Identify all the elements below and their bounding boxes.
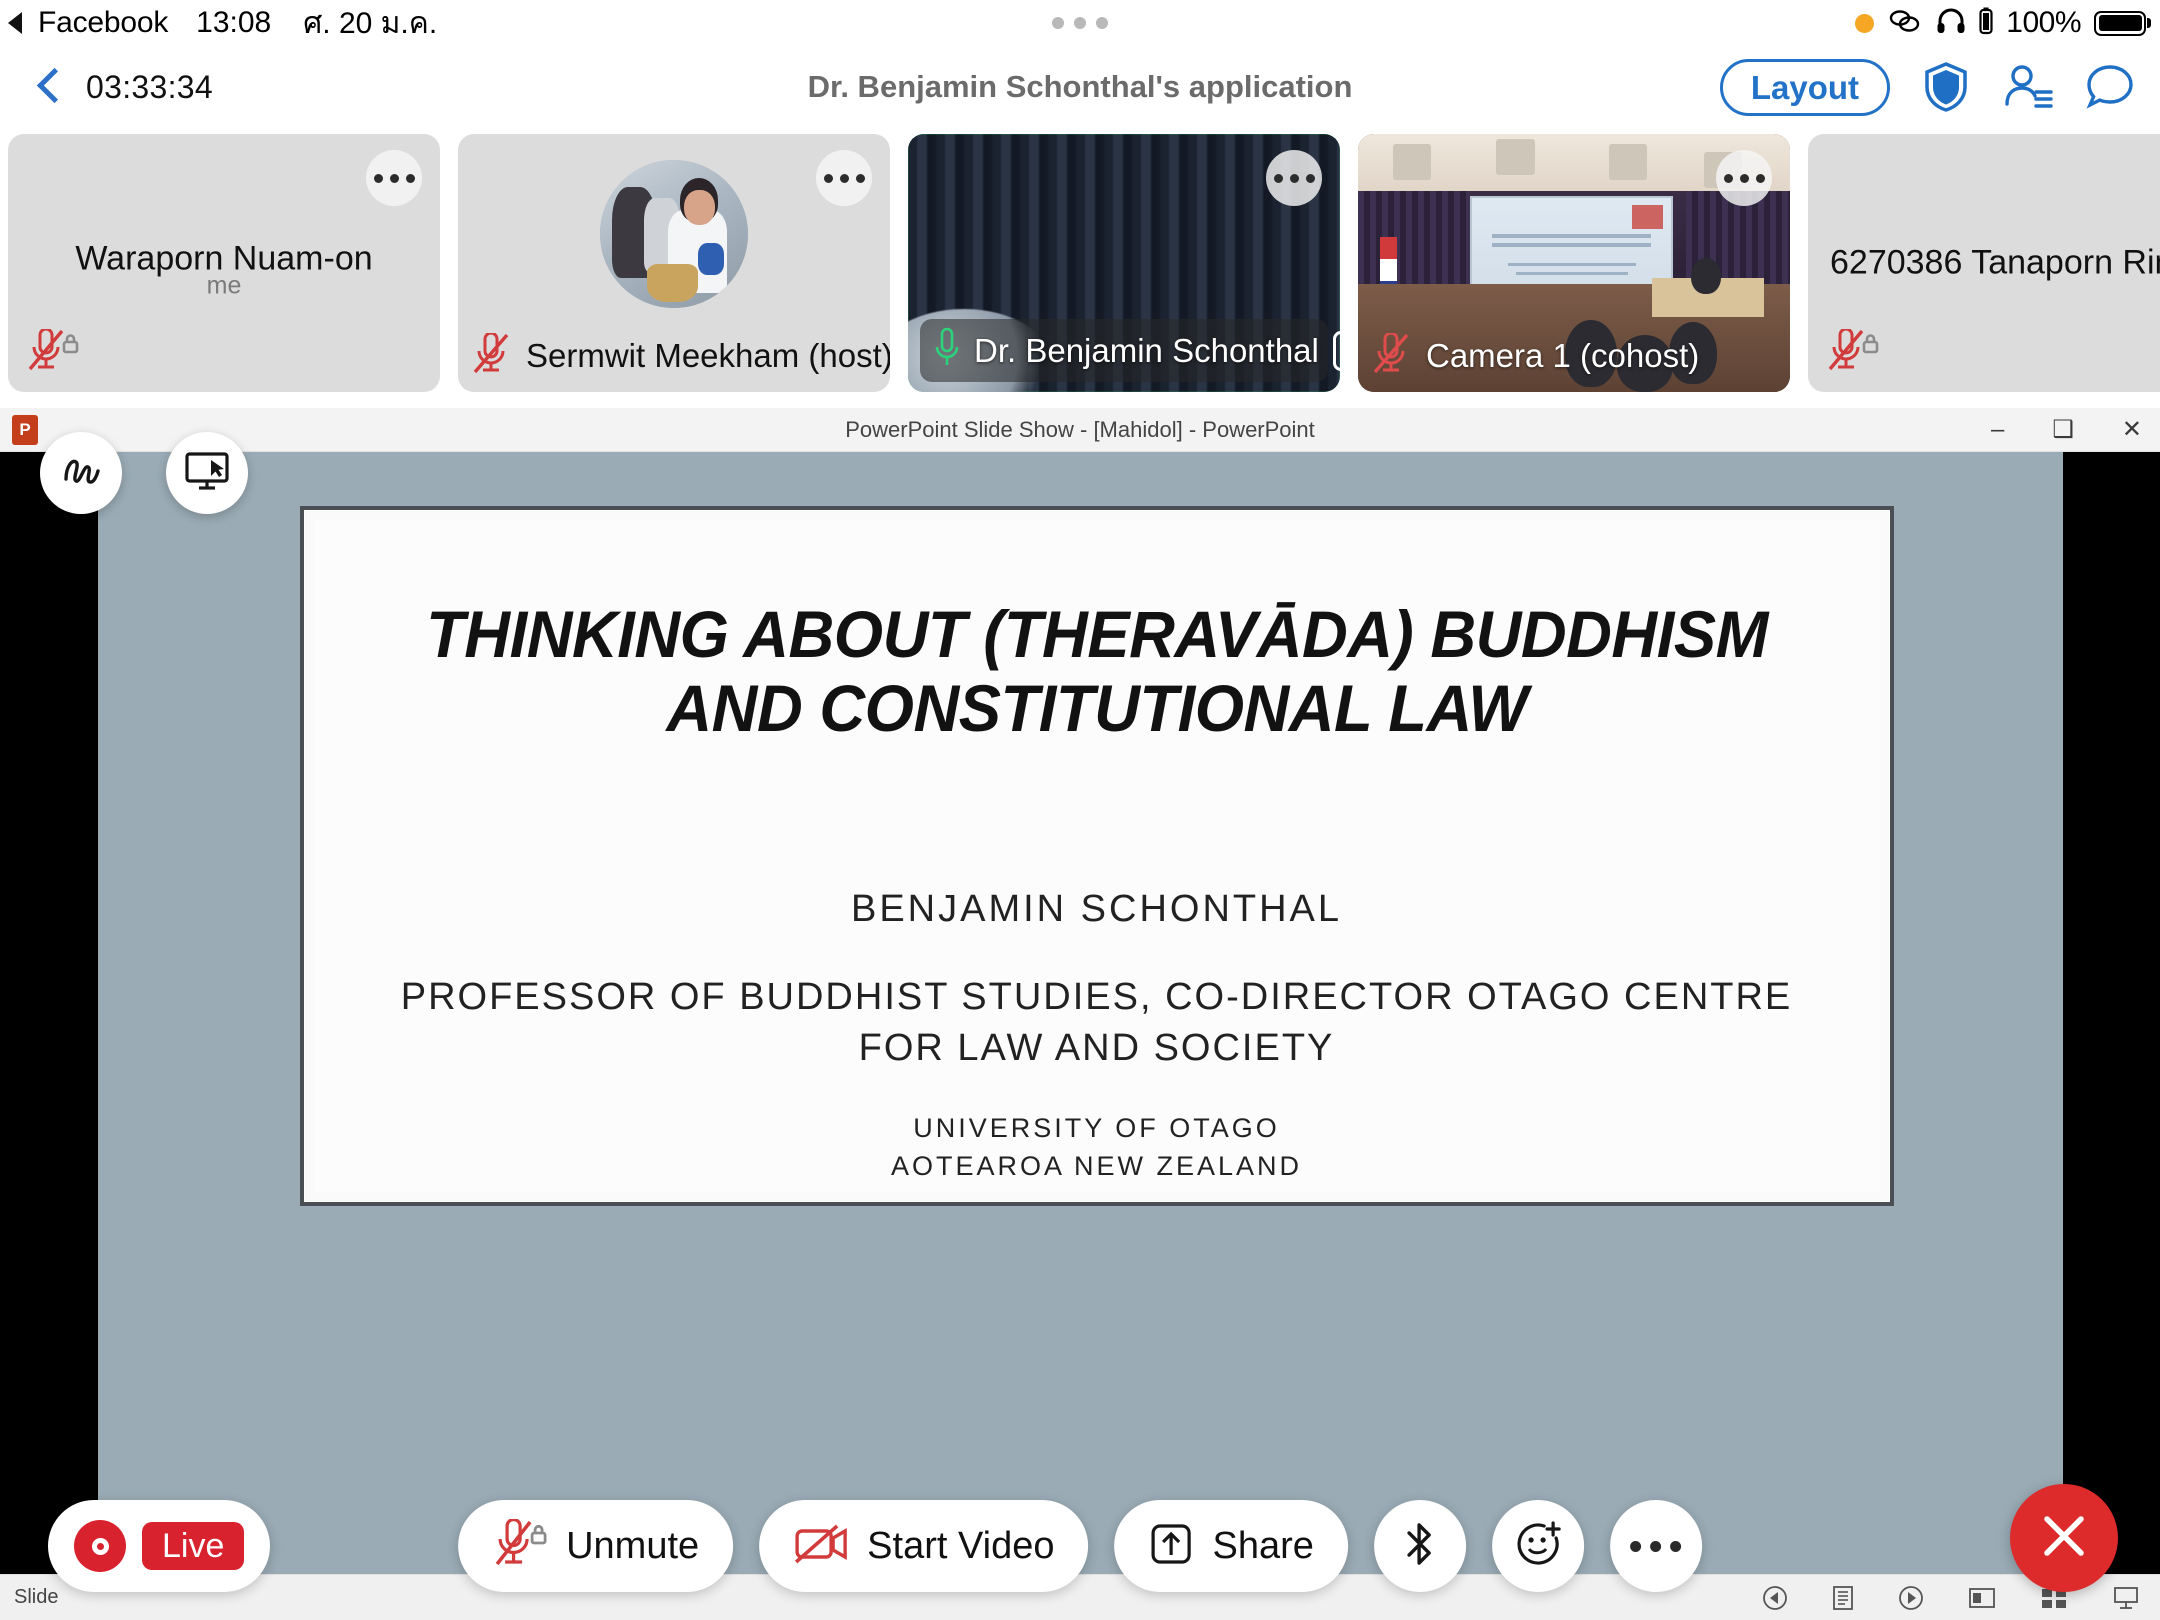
shield-icon[interactable] [1920,61,1972,113]
mic-active-icon [934,327,960,374]
ios-status-bar: Facebook 13:08 ศ. 20 ม.ค. [0,0,2160,46]
airplay-loop-icon [1887,8,1923,39]
participant-tile-camera1[interactable]: Camera 1 (cohost) [1358,134,1790,392]
slide-role: PROFESSOR OF BUDDHIST STUDIES, CO-DIRECT… [374,972,1820,1075]
headphones-icon [1936,7,1966,40]
participant-tile-waraporn[interactable]: Waraporn Nuam-on me [8,134,440,392]
participant-tile-benjamin[interactable]: Dr. Benjamin Schonthal [908,134,1340,392]
bluetooth-button[interactable] [1374,1500,1466,1592]
meeting-timer: 03:33:34 [86,69,213,106]
annotate-button[interactable] [40,432,122,514]
remote-control-monitor-icon [182,449,232,498]
zoom-meeting-screen: Facebook 13:08 ศ. 20 ม.ค. [0,0,2160,1620]
reactions-button[interactable] [1492,1500,1584,1592]
tile-more-menu-icon[interactable] [366,150,422,206]
tile-more-menu-icon[interactable] [1716,150,1772,206]
battery-percent-label: 100% [2006,6,2081,40]
video-off-icon [793,1522,849,1571]
close-icon[interactable]: ✕ [2122,418,2142,442]
layout-button[interactable]: Layout [1720,59,1890,116]
battery-small-icon [1979,7,1993,40]
participant-tile-sermwit[interactable]: Sermwit Meekham (host) [458,134,890,392]
remote-control-button[interactable] [166,432,248,514]
status-date: ศ. 20 ม.ค. [303,0,437,47]
live-badge: Live [142,1522,244,1570]
record-icon [74,1520,126,1572]
share-button[interactable]: Share [1114,1500,1347,1592]
status-center-dots [1052,17,1108,29]
muted-mic-locked-icon [492,1519,548,1574]
live-status-pill[interactable]: Live [48,1500,270,1592]
participant-name: Sermwit Meekham (host) [526,337,890,375]
end-share-close-icon [2035,1507,2093,1570]
record-dot-icon [1855,14,1874,33]
slide-affiliation-line2: AOTEAROA NEW ZEALAND [314,1148,1880,1186]
slide-title: THINKING ABOUT (THERAVĀDA) BUDDHISM AND … [393,598,1800,746]
end-share-button[interactable] [2010,1484,2118,1592]
chat-bubble-icon[interactable] [2084,61,2136,113]
participant-name: 6270386 Tanaporn Rimtrak [1808,244,2160,283]
reactions-icon [1513,1519,1563,1574]
tile-more-menu-icon[interactable] [1266,150,1322,206]
more-dots-icon [1630,1541,1681,1552]
restore-icon[interactable]: ❑ [2052,418,2074,442]
annotate-scribble-icon [57,449,105,498]
share-up-arrow-icon [1148,1521,1194,1572]
bluetooth-icon [1403,1519,1437,1574]
start-video-button[interactable]: Start Video [759,1500,1088,1592]
slide-affiliation: UNIVERSITY OF OTAGO AOTEAROA NEW ZEALAND [314,1110,1880,1186]
slide-author: BENJAMIN SCHONTHAL [314,888,1880,931]
participant-name: Camera 1 (cohost) [1426,337,1699,375]
muted-mic-icon [472,333,512,378]
meeting-header: 03:33:34 Dr. Benjamin Schonthal's applic… [0,46,2160,128]
meeting-control-bar: Live Unmute [0,1488,2160,1592]
slide-affiliation-line1: UNIVERSITY OF OTAGO [314,1110,1880,1148]
battery-icon [2094,11,2146,36]
powerpoint-titlebar: P PowerPoint Slide Show - [Mahidol] - Po… [0,408,2160,452]
start-video-label: Start Video [867,1525,1054,1568]
shared-screen-window: P PowerPoint Slide Show - [Mahidol] - Po… [0,408,2160,1620]
share-up-arrow-icon [1333,331,1340,371]
powerpoint-app-icon: P [12,415,38,445]
participant-subtitle: me [8,272,440,301]
status-back-app-label[interactable]: Facebook [38,6,168,40]
participant-name: Dr. Benjamin Schonthal [974,332,1319,370]
slideshow-stage: THINKING ABOUT (THERAVĀDA) BUDDHISM AND … [0,452,2160,1576]
participant-footer: Dr. Benjamin Schonthal [920,319,1328,382]
unmute-label: Unmute [566,1525,699,1568]
participant-tile-tanaporn[interactable]: 6270386 Tanaporn Rimtrak [1808,134,2160,392]
status-clock: 13:08 [196,6,271,40]
back-triangle-icon[interactable] [8,12,22,34]
share-label: Share [1212,1525,1313,1568]
slide-canvas: THINKING ABOUT (THERAVĀDA) BUDDHISM AND … [98,452,2063,1576]
avatar [600,160,748,308]
back-chevron-icon[interactable] [28,65,72,109]
slide: THINKING ABOUT (THERAVĀDA) BUDDHISM AND … [300,506,1894,1206]
tile-more-menu-icon[interactable] [816,150,872,206]
participant-footer: Sermwit Meekham (host) [458,323,890,392]
participants-icon[interactable] [2002,61,2054,113]
more-options-button[interactable] [1610,1500,1702,1592]
muted-mic-locked-icon [1826,329,1880,378]
participant-filmstrip[interactable]: Waraporn Nuam-on me [0,128,2160,408]
meeting-title: Dr. Benjamin Schonthal's application [808,69,1353,105]
muted-mic-icon [1372,333,1412,378]
muted-mic-locked-icon [26,329,80,378]
participant-footer: Camera 1 (cohost) [1358,323,1790,392]
unmute-button[interactable]: Unmute [458,1500,733,1592]
minimize-icon[interactable]: – [1991,418,2004,442]
powerpoint-window-title: PowerPoint Slide Show - [Mahidol] - Powe… [845,417,1315,443]
